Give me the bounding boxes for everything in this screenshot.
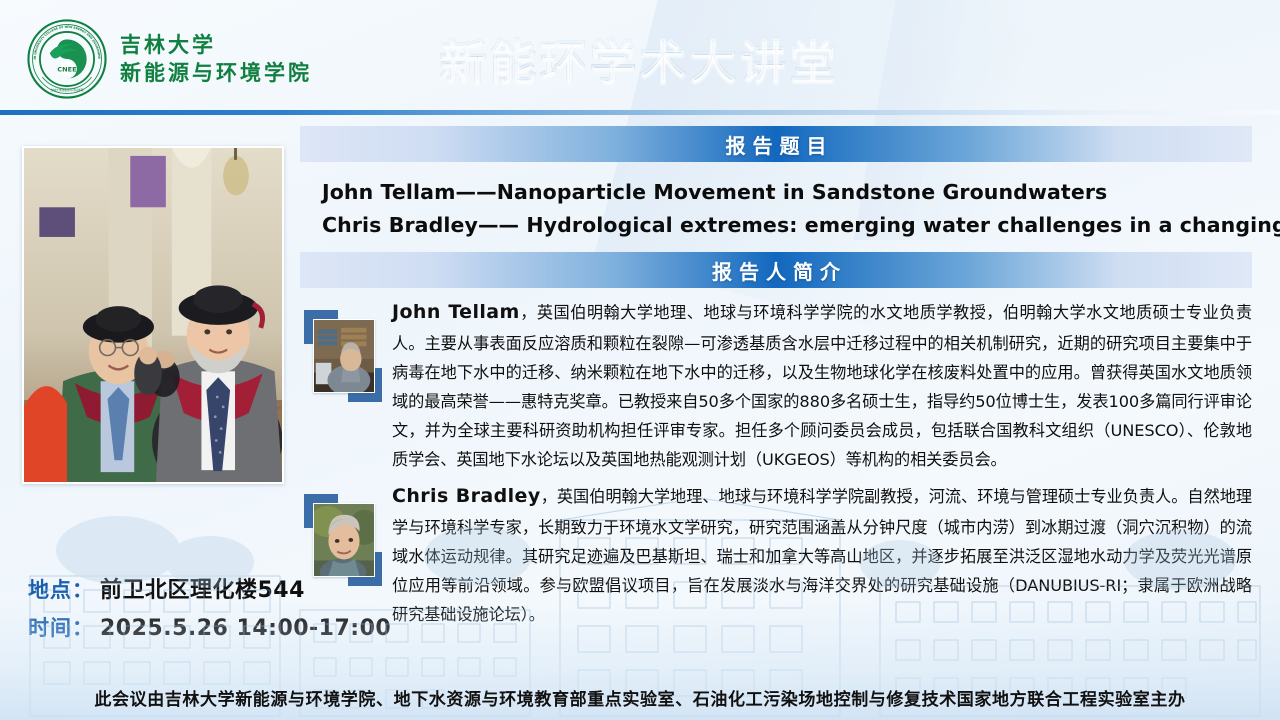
speaker-bio-john-tellam: John Tellam，英国伯明翰大学地理、地球与环境科学学院的水文地质学教授，… <box>300 296 1252 474</box>
lecture-poster: CNEE JILIN UNIVERSITY COLLEGE OF NEW ENE… <box>0 0 1280 720</box>
section-bar-topic-label: 报告题目 <box>719 130 834 159</box>
topic-line-2: Chris Bradley—— Hydrological extremes: e… <box>322 209 1248 242</box>
chris-bradley-bio-text: Chris Bradley，英国伯明翰大学地理、地球与环境科学学院副教授，河流、… <box>392 480 1252 629</box>
chris-bradley-name: Chris Bradley <box>392 485 541 507</box>
john-tellam-bio-body: ，英国伯明翰大学地理、地球与环境科学学院的水文地质学教授，伯明翰大学水文地质硕士… <box>392 303 1252 468</box>
main-photo-two-academics <box>22 146 284 484</box>
event-time-label: 时间： <box>28 612 94 642</box>
section-bar-speakers-label: 报告人简介 <box>705 256 847 285</box>
poster-footer-organizers: 此会议由吉林大学新能源与环境学院、地下水资源与环境教育部重点实验室、石油化工污染… <box>0 685 1280 710</box>
poster-content: 报告题目 John Tellam——Nanoparticle Movement … <box>300 126 1252 629</box>
john-tellam-name: John Tellam <box>392 301 520 323</box>
speaker-bio-chris-bradley: Chris Bradley，英国伯明翰大学地理、地球与环境科学学院副教授，河流、… <box>300 480 1252 629</box>
event-location-value: 前卫北区理化楼544 <box>100 572 305 604</box>
topic-list: John Tellam——Nanoparticle Movement in Sa… <box>300 162 1252 252</box>
john-tellam-bio-text: John Tellam，英国伯明翰大学地理、地球与环境科学学院的水文地质学教授，… <box>392 296 1252 474</box>
chris-bradley-photo <box>313 503 375 577</box>
topic-line-1: John Tellam——Nanoparticle Movement in Sa… <box>322 176 1248 209</box>
event-location-label: 地点： <box>28 574 94 604</box>
header-divider-rule <box>0 110 1280 115</box>
poster-main-title: 新能环学术大讲堂 <box>0 26 1280 92</box>
poster-header: CNEE JILIN UNIVERSITY COLLEGE OF NEW ENE… <box>0 0 1280 112</box>
chris-bradley-portrait <box>304 494 382 586</box>
section-bar-speakers: 报告人简介 <box>300 252 1252 288</box>
john-tellam-photo <box>313 319 375 393</box>
section-bar-topic: 报告题目 <box>300 126 1252 162</box>
john-tellam-portrait <box>304 310 382 402</box>
speaker-bio-list: John Tellam，英国伯明翰大学地理、地球与环境科学学院的水文地质学教授，… <box>300 288 1252 629</box>
chris-bradley-bio-body: ，英国伯明翰大学地理、地球与环境科学学院副教授，河流、环境与管理硕士专业负责人。… <box>392 487 1252 623</box>
